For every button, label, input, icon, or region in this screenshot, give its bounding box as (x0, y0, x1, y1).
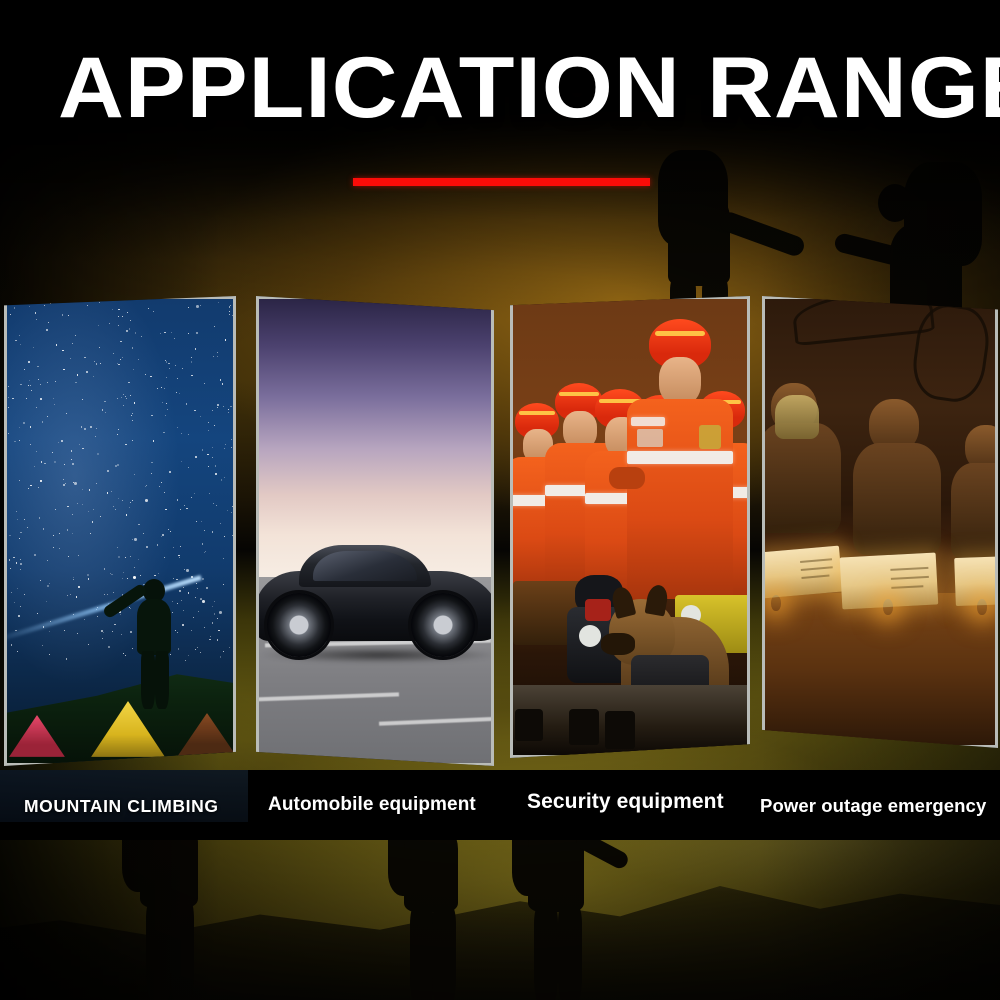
photo-candlelight-study (765, 299, 995, 745)
page-title-area: APPLICATION RANGE (0, 40, 1000, 165)
page-title: APPLICATION RANGE (58, 40, 1000, 136)
caption-automobile-equipment: Automobile equipment (268, 794, 476, 816)
candle-flame (883, 599, 893, 615)
sports-car (259, 539, 491, 659)
caption-power-outage-emergency: Power outage emergency (760, 795, 986, 817)
open-book (954, 556, 995, 606)
photo-sports-car-dusk (259, 299, 491, 763)
floor-mat (765, 593, 995, 745)
boot (605, 711, 635, 749)
panel-caption-row: MOUNTAIN CLIMBING Automobile equipment S… (0, 770, 1000, 840)
application-panel-automobile-equipment[interactable] (256, 296, 494, 766)
application-panel-power-outage-emergency[interactable] (762, 296, 998, 748)
camper-silhouette (131, 579, 177, 711)
candle-flame (977, 599, 987, 615)
caption-band-floor (0, 822, 1000, 840)
open-book (765, 546, 843, 599)
car-wheel (411, 593, 475, 657)
application-panel-mountain-climbing[interactable] (4, 296, 236, 766)
application-panel-row (0, 296, 1000, 796)
application-panel-security-equipment[interactable] (510, 296, 750, 758)
candle-flame (771, 595, 781, 611)
boot (569, 709, 599, 745)
photo-night-sky-camping (7, 299, 233, 763)
application-range-banner: APPLICATION RANGE (0, 0, 1000, 1000)
caption-security-equipment: Security equipment (527, 790, 724, 814)
photo-rescue-team (513, 299, 747, 755)
car-wheel (267, 593, 331, 657)
caption-mountain-climbing: MOUNTAIN CLIMBING (24, 796, 219, 817)
boot (515, 709, 543, 741)
title-underline (353, 178, 650, 186)
